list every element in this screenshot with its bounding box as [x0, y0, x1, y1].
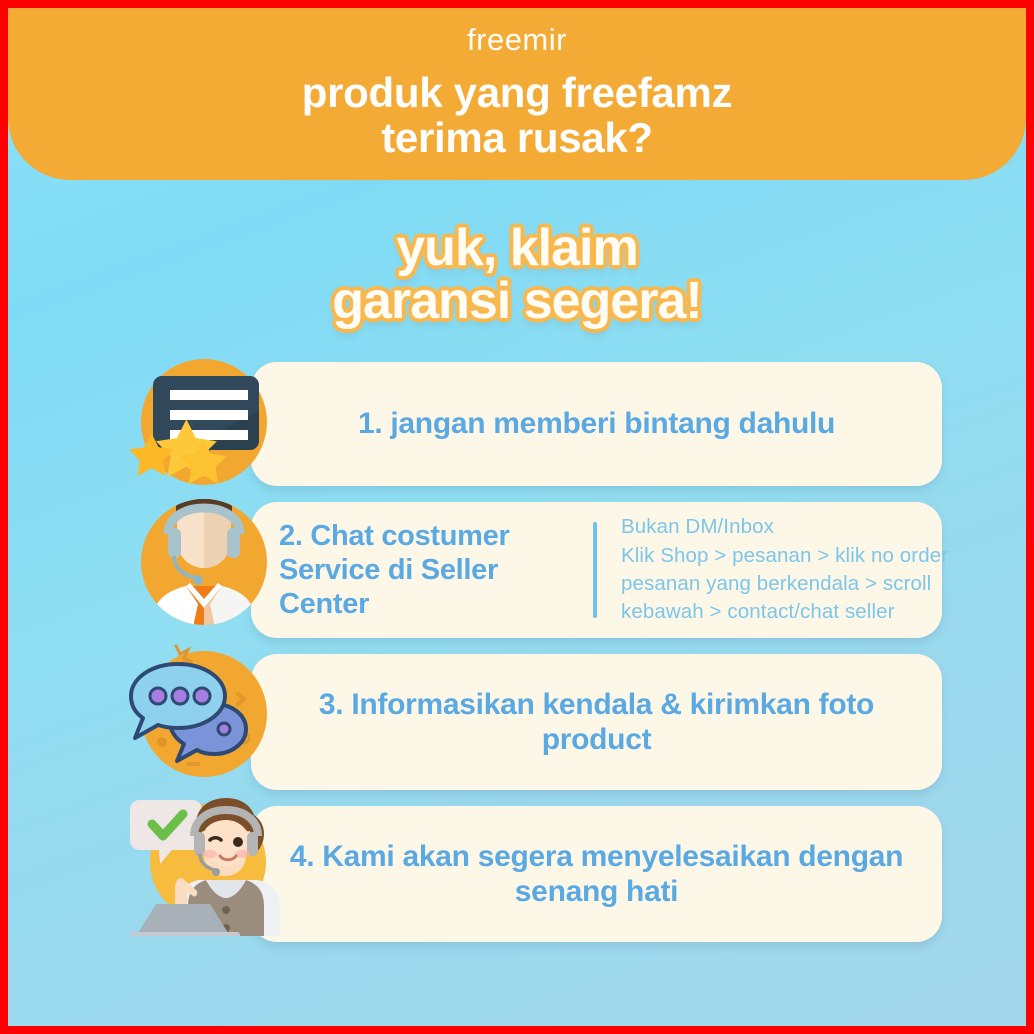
step-item-2: 2. Chat costumer Service di Seller Cente…: [8, 502, 1026, 638]
review-stars-icon: [126, 350, 282, 498]
step-detail-2: Bukan DM/Inbox Klik Shop > pesanan > kli…: [597, 513, 948, 626]
step-card-2: 2. Chat costumer Service di Seller Cente…: [251, 502, 942, 638]
step-label-2: 2. Chat costumer Service di Seller Cente…: [251, 519, 593, 622]
step-card-1: 1. jangan memberi bintang dahulu: [251, 362, 942, 486]
step-label-4: 4. Kami akan segera menyelesaikan dengan…: [251, 839, 942, 910]
main-headline: yuk, klaim garansi segera!: [8, 222, 1026, 328]
detail-line-4: kebawah > contact/chat seller: [621, 598, 948, 626]
detail-line-1: Bukan DM/Inbox: [621, 513, 948, 541]
header-title-line1: produk yang freefamz: [8, 71, 1026, 116]
brand-logo: freemir: [8, 24, 1026, 55]
detail-line-3: pesanan yang berkendala > scroll: [621, 570, 948, 598]
detail-line-2: Klik Shop > pesanan > klik no order: [621, 542, 948, 570]
step-card-4: 4. Kami akan segera menyelesaikan dengan…: [251, 806, 942, 942]
male-agent-headset-icon: [126, 490, 282, 638]
step-label-3: 3. Informasikan kendala & kirimkan foto …: [251, 687, 942, 758]
headline-line1: yuk, klaim: [8, 222, 1026, 275]
step-item-4: 4. Kami akan segera menyelesaikan dengan…: [8, 806, 1026, 942]
header-title: produk yang freefamz terima rusak?: [8, 71, 1026, 161]
steps-list: 1. jangan memberi bintang dahulu: [8, 362, 1026, 958]
step-label-1: 1. jangan memberi bintang dahulu: [251, 406, 942, 441]
female-agent-check-icon: [126, 794, 282, 942]
header-title-line2: terima rusak?: [8, 116, 1026, 161]
step-item-1: 1. jangan memberi bintang dahulu: [8, 362, 1026, 486]
step-item-3: 3. Informasikan kendala & kirimkan foto …: [8, 654, 1026, 790]
headline-line2: garansi segera!: [8, 275, 1026, 328]
header-banner: freemir produk yang freefamz terima rusa…: [8, 8, 1026, 180]
step-card-3: 3. Informasikan kendala & kirimkan foto …: [251, 654, 942, 790]
chat-bubbles-icon: [126, 642, 282, 790]
infographic-poster: freemir produk yang freefamz terima rusa…: [0, 0, 1034, 1034]
